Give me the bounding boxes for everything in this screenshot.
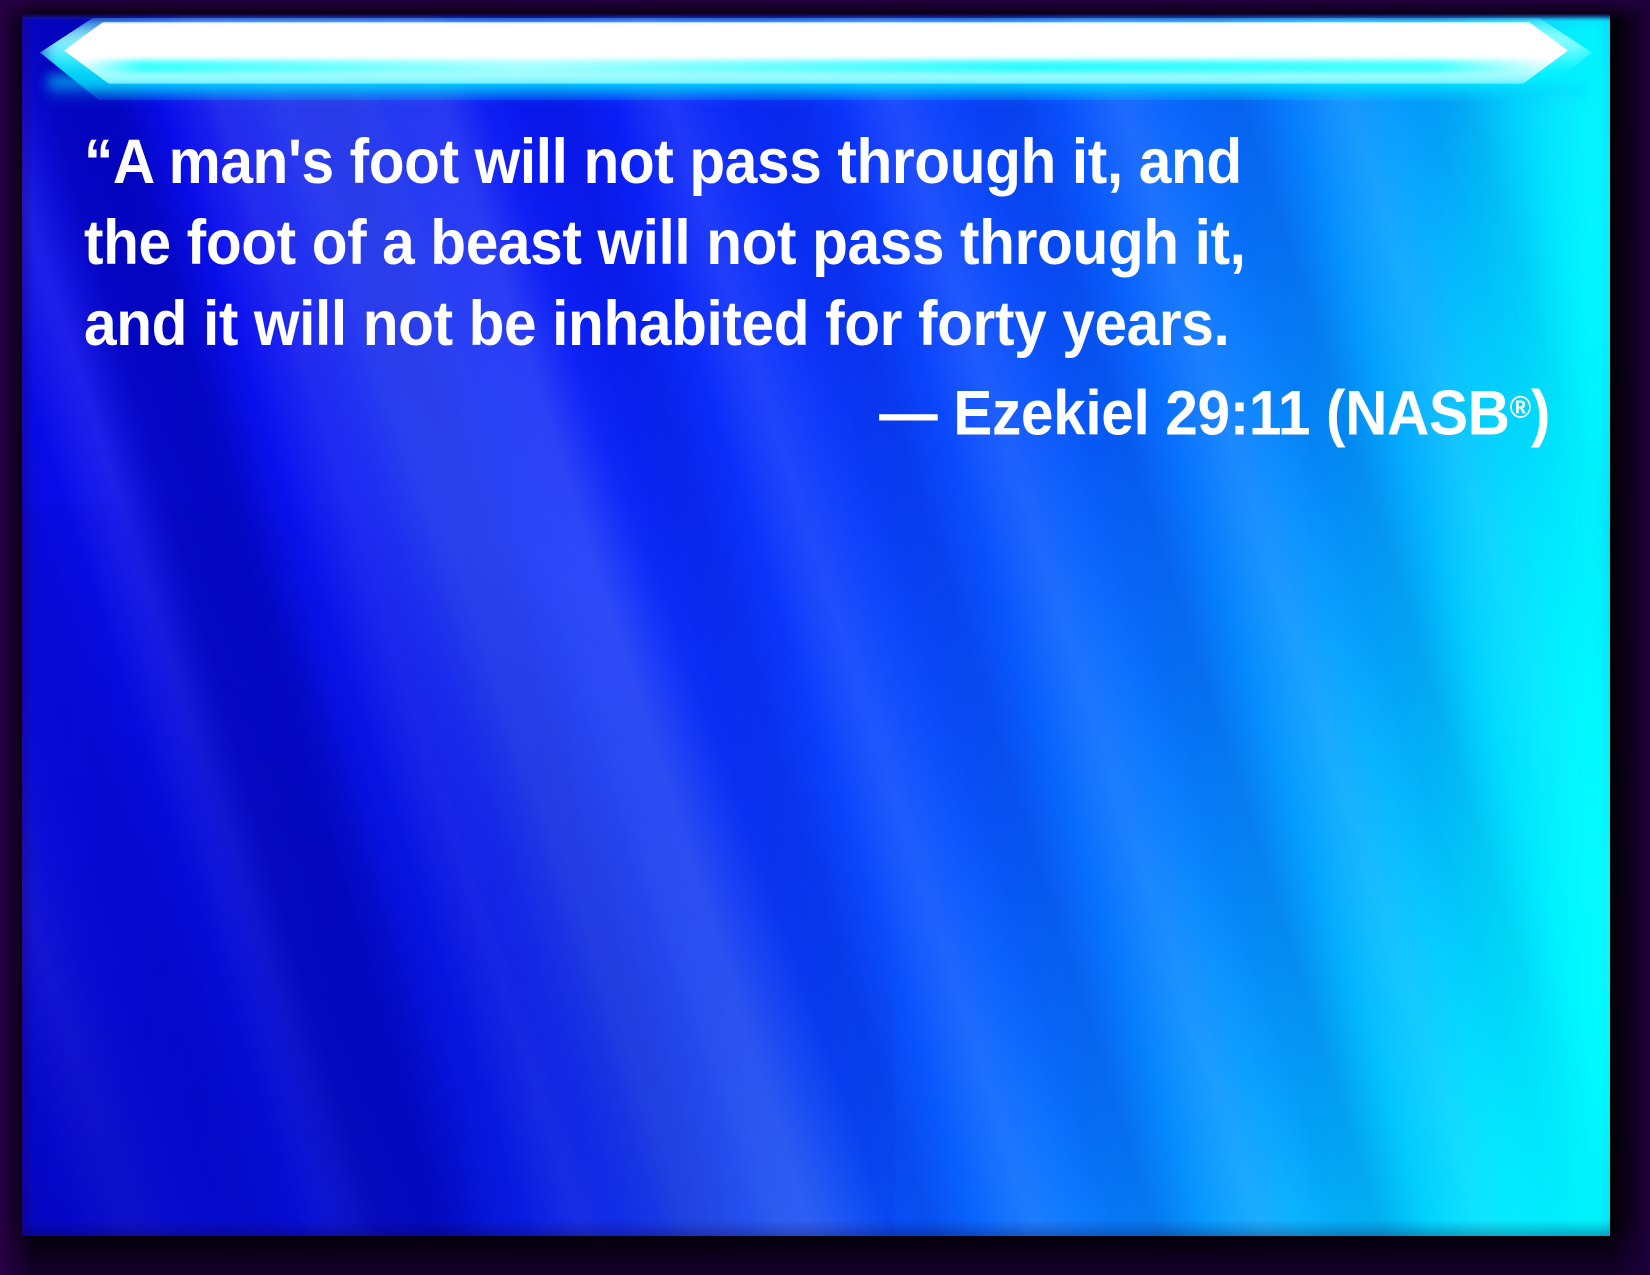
attribution-book: Ezekiel: [953, 378, 1149, 448]
verse-text-block: “A man's foot will not pass through it, …: [22, 122, 1610, 455]
slide-frame: “A man's foot will not pass through it, …: [0, 0, 1650, 1275]
slide-canvas: “A man's foot will not pass through it, …: [22, 14, 1610, 1236]
attribution-reference: 29:11: [1165, 378, 1310, 448]
attribution-dash: —: [879, 378, 937, 448]
verse-line-1: “A man's foot will not pass through it, …: [84, 122, 1447, 203]
background-dark-corner: [22, 503, 895, 1236]
attribution-translation-open: (NASB: [1326, 378, 1510, 448]
verse-attribution: — Ezekiel 29:11 (NASB®): [187, 365, 1550, 455]
registered-trademark-icon: ®: [1510, 389, 1531, 425]
verse-line-3: and it will not be inhabited for forty y…: [84, 284, 1447, 365]
verse-line-2: the foot of a beast will not pass throug…: [84, 203, 1447, 284]
attribution-translation-close: ): [1531, 378, 1550, 448]
